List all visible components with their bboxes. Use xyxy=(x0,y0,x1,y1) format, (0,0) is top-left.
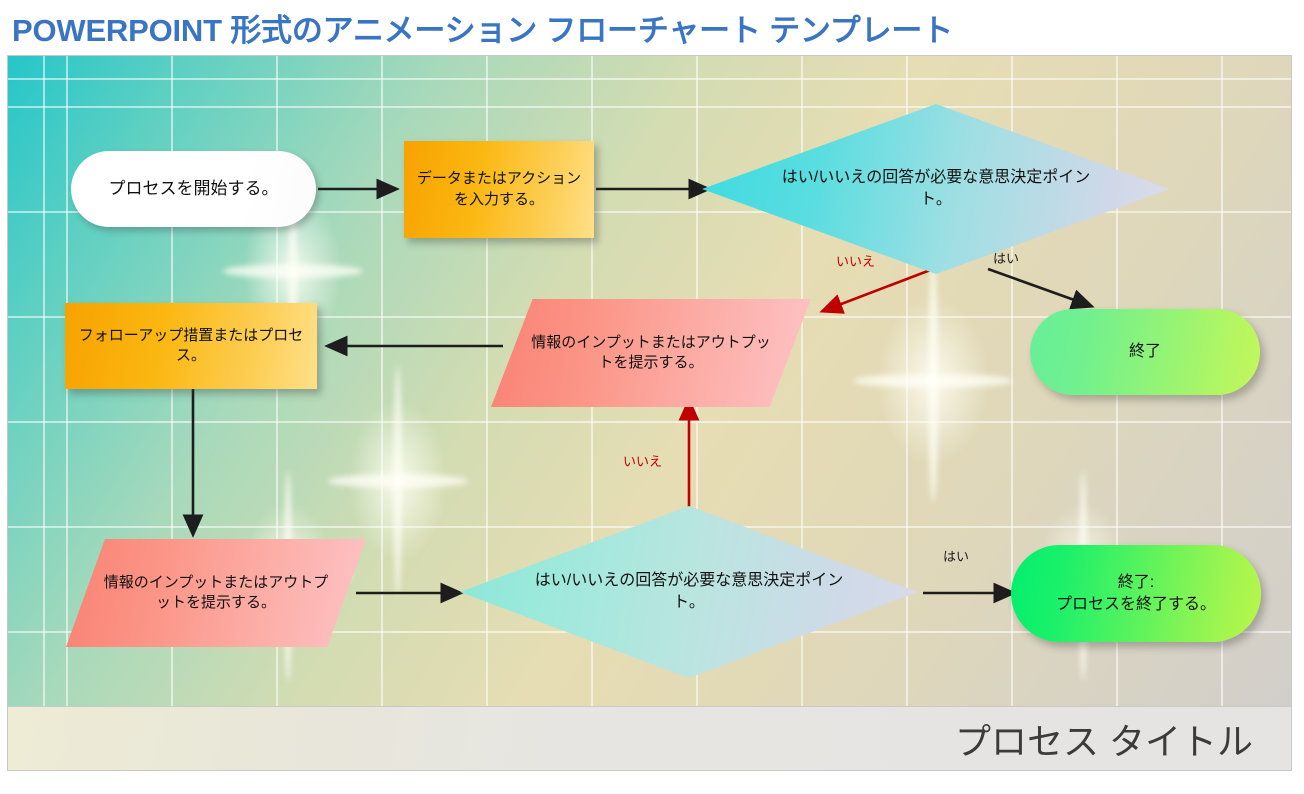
node-end-1-label: 終了 xyxy=(1121,341,1169,363)
node-input-data[interactable]: データまたはアクションを入力する。 xyxy=(404,141,594,238)
slide: POWERPOINT 形式のアニメーション フローチャート テンプレート xyxy=(0,0,1304,794)
node-start-label: プロセスを開始する。 xyxy=(101,178,287,201)
node-io-bottom-label: 情報のインプットまたはアウトプットを提示する。 xyxy=(91,573,341,614)
sparkle-decoration xyxy=(853,261,1013,501)
node-decision-1-label: はい/いいえの回答が必要な意思決定ポイント。 xyxy=(769,167,1103,210)
node-end-2[interactable]: 終了: プロセスを終了する。 xyxy=(1011,545,1261,642)
edge-decision1-yes xyxy=(988,269,1091,306)
edge-decision1-no xyxy=(823,269,933,311)
header-bar: POWERPOINT 形式のアニメーション フローチャート テンプレート xyxy=(0,0,1304,55)
node-end-2-label-line1: 終了: xyxy=(1110,572,1162,594)
node-end-1[interactable]: 終了 xyxy=(1030,309,1260,395)
node-decision-1[interactable]: はい/いいえの回答が必要な意思決定ポイント。 xyxy=(702,104,1170,274)
node-decision-2-label: はい/いいえの回答が必要な意思決定ポイント。 xyxy=(525,570,852,613)
node-followup-label: フォローアップ措置またはプロセス。 xyxy=(65,326,317,367)
node-start[interactable]: プロセスを開始する。 xyxy=(71,151,316,227)
node-io-middle-label: 情報のインプットまたはアウトプットを提示する。 xyxy=(518,333,784,374)
edge-label-decision2-no: いいえ xyxy=(623,451,662,470)
node-followup[interactable]: フォローアップ措置またはプロセス。 xyxy=(65,303,317,389)
node-end-2-label-line2: プロセスを終了する。 xyxy=(1048,594,1224,616)
node-io-bottom[interactable]: 情報のインプットまたはアウトプットを提示する。 xyxy=(66,539,366,647)
node-io-middle[interactable]: 情報のインプットまたはアウトプットを提示する。 xyxy=(491,299,811,407)
flowchart-canvas: いいえ はい いいえ はい プロセスを開始する。 データまたはアクションを入力す… xyxy=(7,55,1292,715)
node-decision-2[interactable]: はい/いいえの回答が必要な意思決定ポイント。 xyxy=(460,506,918,678)
page-title: POWERPOINT 形式のアニメーション フローチャート テンプレート xyxy=(12,5,953,50)
process-title: プロセス タイトル xyxy=(955,713,1253,765)
edge-label-decision2-yes: はい xyxy=(943,546,969,565)
footer-bar: プロセス タイトル xyxy=(7,706,1292,771)
edge-label-decision1-no: いいえ xyxy=(836,251,875,270)
node-input-data-label: データまたはアクションを入力する。 xyxy=(404,169,594,210)
